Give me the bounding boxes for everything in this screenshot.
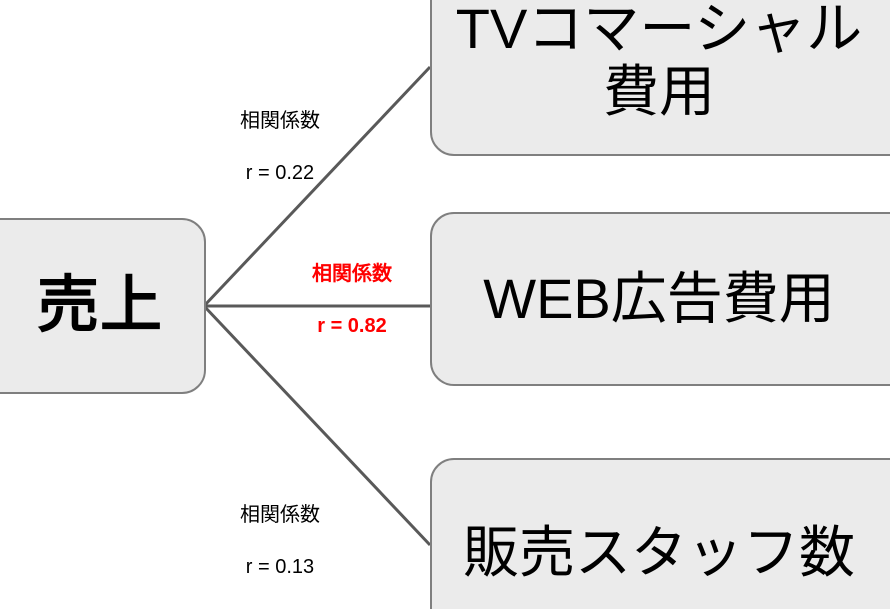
node-web-ad-cost-label: WEB広告費用: [483, 268, 890, 331]
diagram-canvas: 売上 TVコマーシャル 費用 WEB広告費用 販売スタッフ数 相関係数 r = …: [0, 0, 890, 609]
edge-label-web: 相関係数 r = 0.82: [287, 235, 417, 365]
node-sales-label: 売上: [17, 271, 163, 340]
node-tv-commercial-cost[interactable]: TVコマーシャル 費用: [430, 0, 890, 156]
edge-label-staff-value: r = 0.13: [206, 554, 354, 580]
edge-label-tv-title: 相関係数: [206, 108, 354, 134]
node-web-ad-cost[interactable]: WEB広告費用: [430, 212, 890, 386]
node-sales-staff-count[interactable]: 販売スタッフ数: [430, 458, 890, 609]
node-sales[interactable]: 売上: [0, 218, 206, 394]
edge-label-tv-value: r = 0.22: [206, 160, 354, 186]
edge-label-staff: 相関係数 r = 0.13: [206, 476, 354, 606]
node-tv-commercial-cost-label: TVコマーシャル 費用: [456, 0, 890, 124]
edge-label-staff-title: 相関係数: [206, 502, 354, 528]
edge-label-web-title: 相関係数: [287, 261, 417, 287]
node-sales-staff-count-label: 販売スタッフ数: [463, 522, 890, 585]
edge-label-web-value: r = 0.82: [287, 313, 417, 339]
edge-label-tv: 相関係数 r = 0.22: [206, 82, 354, 212]
